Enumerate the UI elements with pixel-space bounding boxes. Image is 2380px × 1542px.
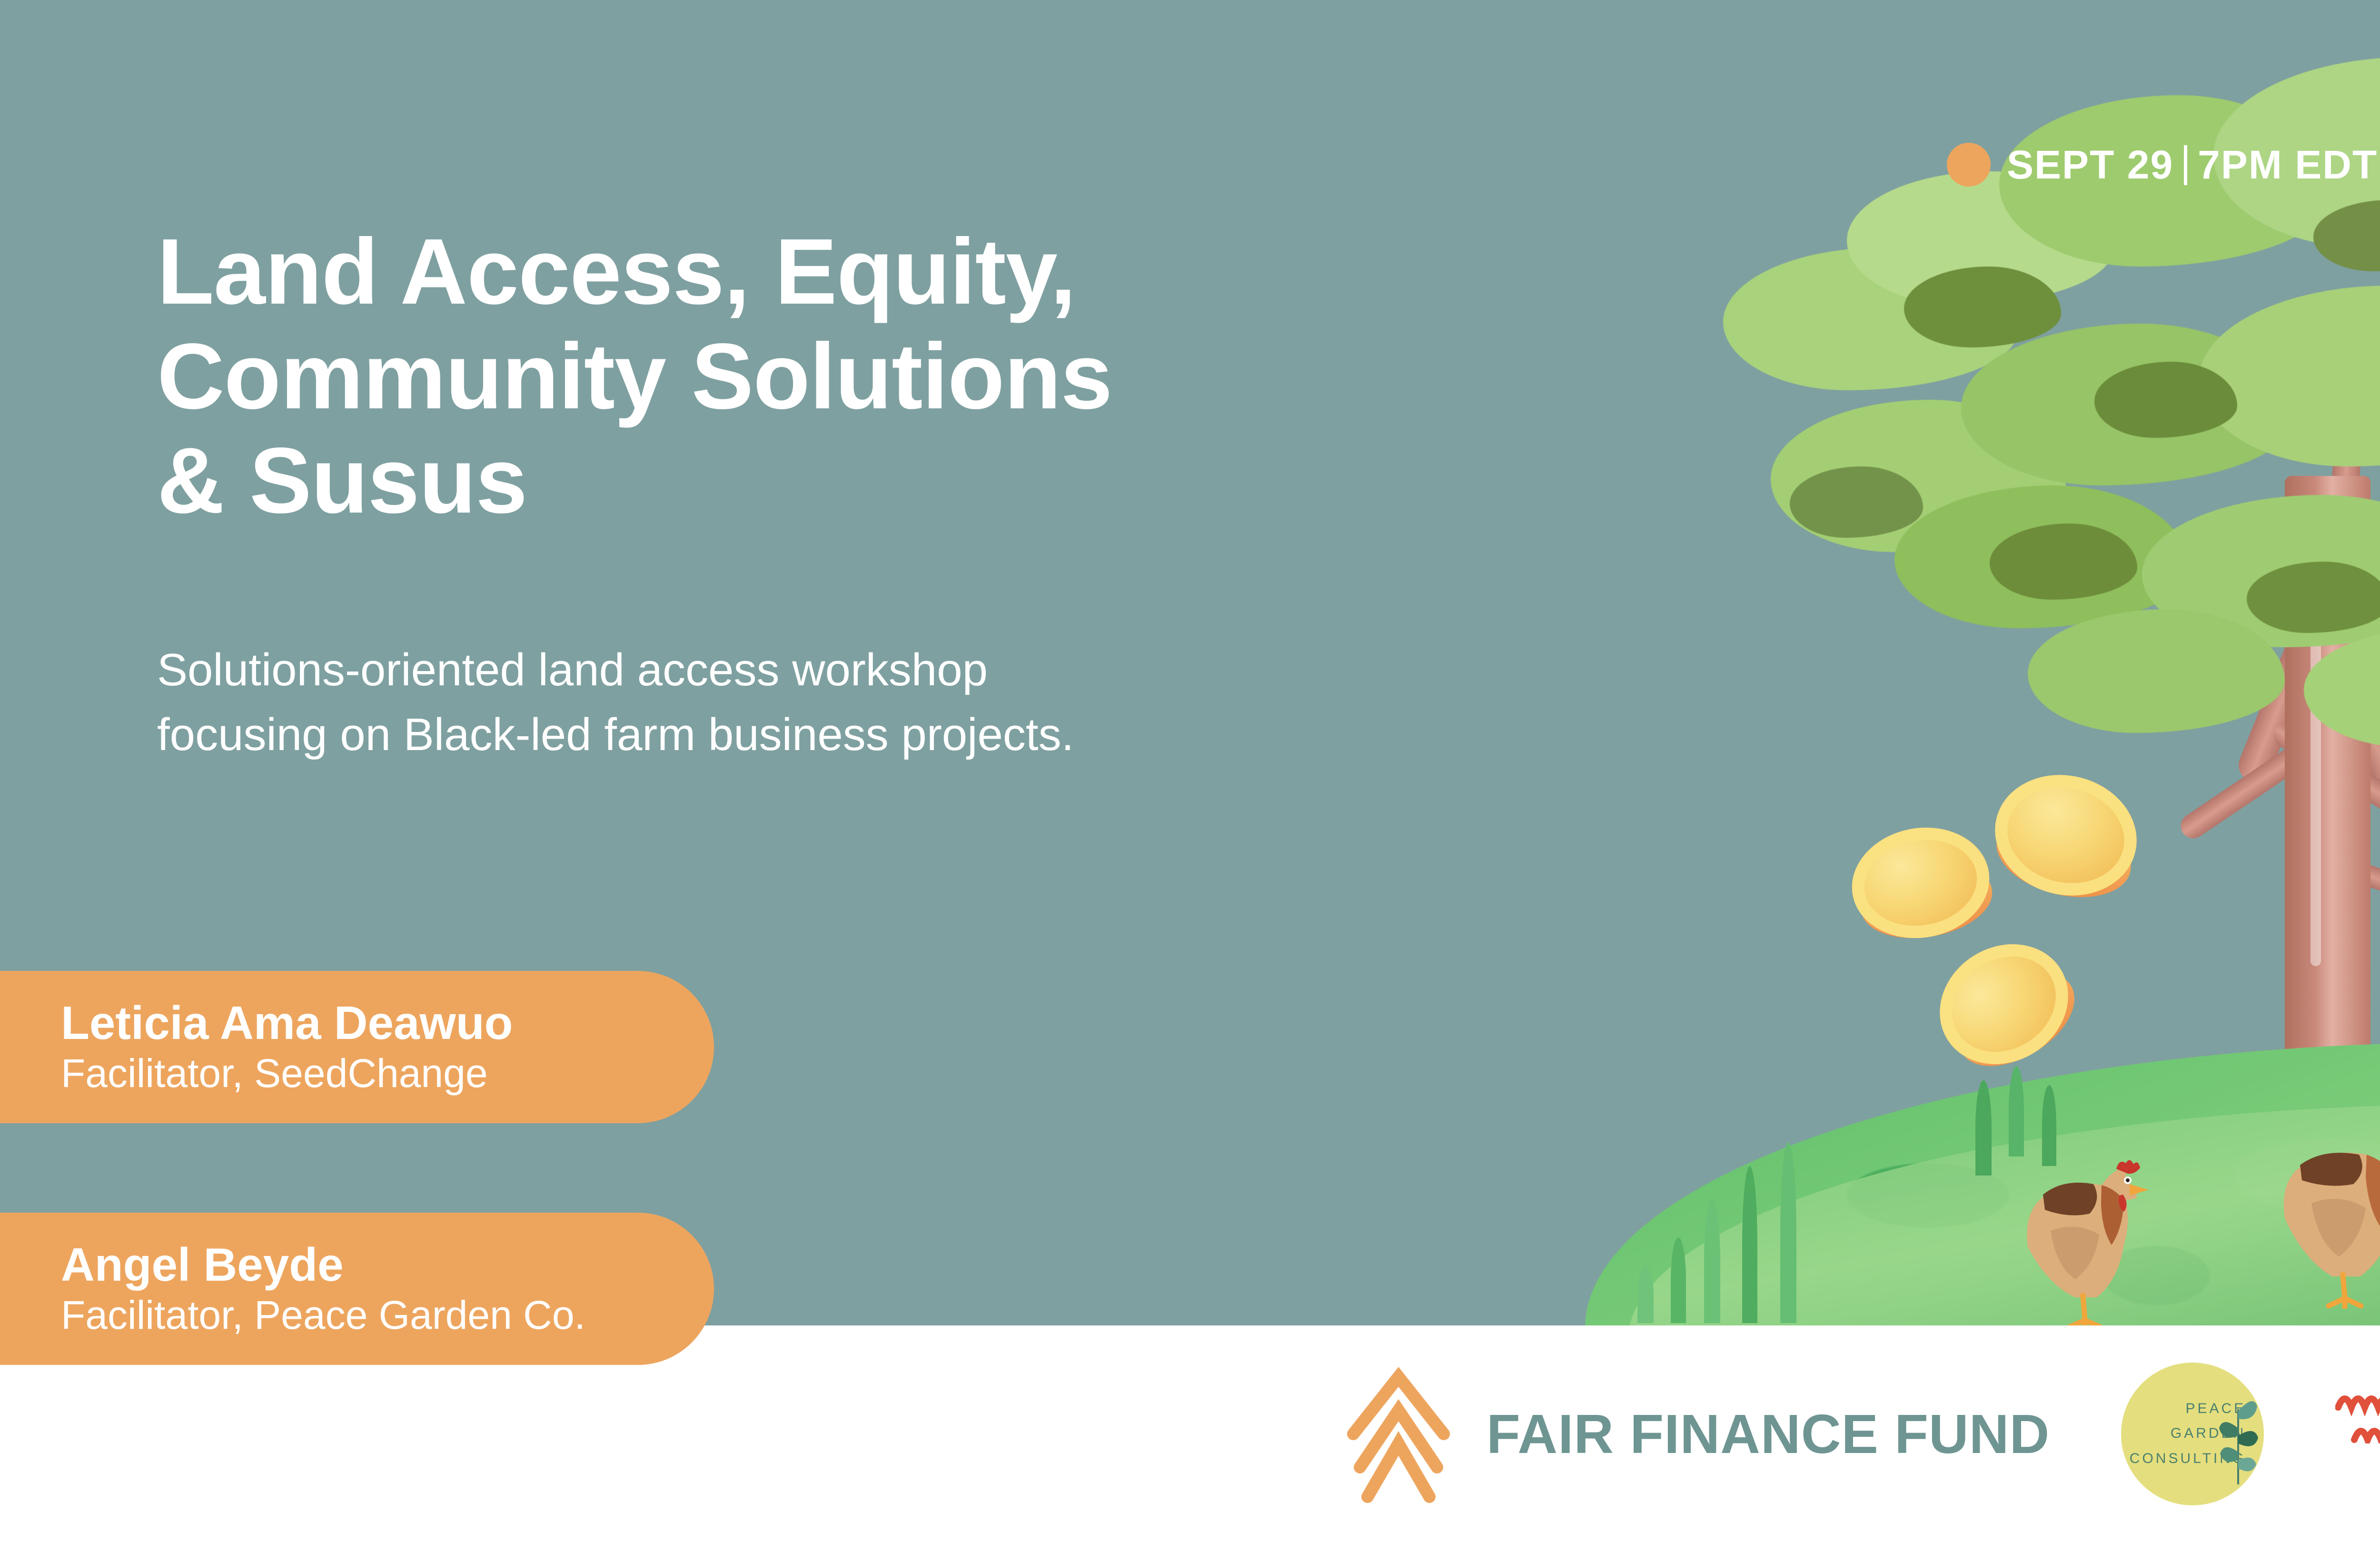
grass-blade <box>1780 1142 1796 1323</box>
event-date: SEPT 29 <box>2007 142 2173 187</box>
speaker-card-1: Leticia Ama Deawuo Facilitator, SeedChan… <box>0 971 714 1123</box>
logo-fair-finance-fund-text: FAIR FINANCE FUND <box>1487 1402 2050 1466</box>
subtitle-line: Solutions-oriented land access workshop <box>157 638 1395 702</box>
chicken-icon <box>2266 1095 2380 1309</box>
logo-peace-garden-consulting: PEACE GARDEN CONSULTING <box>2121 1363 2264 1505</box>
seedchange-wordmark: SeedChange <box>2335 1380 2380 1452</box>
page-title: Land Access, Equity, Community Solutions… <box>157 219 1442 533</box>
chicken-icon <box>2013 1128 2171 1328</box>
event-date-text: SEPT 297PM EDT <box>2007 145 2378 185</box>
logo-row: FAIR FINANCE FUND PEACE GARDEN CONSULTIN… <box>1344 1363 2380 1505</box>
headline-line: Community Solutions <box>157 324 1442 429</box>
speaker-role: Facilitator, SeedChange <box>61 1049 714 1097</box>
grass-blade <box>1637 1266 1654 1323</box>
grass-blade <box>1742 1166 1757 1323</box>
date-separator-icon <box>2184 145 2187 185</box>
logo-fair-finance-fund: FAIR FINANCE FUND <box>1344 1363 2050 1505</box>
coin-face <box>1917 920 2091 1088</box>
event-date-badge: SEPT 297PM EDT <box>1947 143 2378 187</box>
chicken <box>2013 1128 2171 1328</box>
orange-dot-icon <box>1947 143 1991 187</box>
event-promo-poster: SEPT 297PM EDT Land Access, Equity, Comm… <box>0 0 2380 1542</box>
chicken <box>2266 1095 2380 1309</box>
coin-face <box>1982 760 2150 910</box>
speaker-role: Facilitator, Peace Garden Co. <box>61 1291 714 1339</box>
gold-coin <box>1843 817 1998 949</box>
gold-coin <box>1917 920 2091 1088</box>
gold-coin <box>1982 760 2150 910</box>
speaker-name: Leticia Ama Deawuo <box>61 997 714 1050</box>
speaker-name: Angel Beyde <box>61 1238 714 1292</box>
grass-blade <box>1975 1080 1992 1176</box>
coin-face <box>1843 817 1998 949</box>
wave-lines-icon <box>2335 1388 2380 1443</box>
headline-line: Land Access, Equity, <box>157 219 1442 324</box>
subtitle-line: focusing on Black-led farm business proj… <box>157 702 1395 767</box>
grass-blade <box>1704 1199 1720 1323</box>
headline-line: & Susus <box>157 428 1442 533</box>
logo-seedchange: SeedChange Formerly USC Canada <box>2335 1380 2380 1487</box>
page-subtitle: Solutions-oriented land access workshop … <box>157 638 1395 768</box>
event-time: 7PM EDT <box>2198 142 2378 187</box>
chevron-stack-icon <box>1344 1363 1453 1505</box>
grass-blade <box>1671 1237 1686 1323</box>
speaker-card-2: Angel Beyde Facilitator, Peace Garden Co… <box>0 1213 714 1365</box>
leaf-sprig-icon <box>2216 1390 2260 1485</box>
tree-foliage <box>2028 609 2285 733</box>
